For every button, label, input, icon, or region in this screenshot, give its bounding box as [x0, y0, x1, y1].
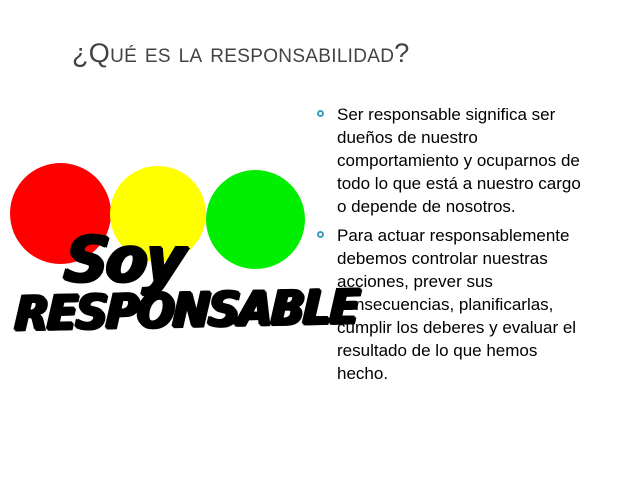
green-light-icon [206, 170, 305, 269]
bullet-list: Ser responsable significa ser dueños de … [312, 103, 587, 391]
presentation-slide: ¿Qué es la responsabilidad? Soy RESPONSA… [0, 0, 638, 479]
graffiti-text-soy: Soy [62, 229, 186, 292]
hollow-circle-bullet-icon [317, 110, 324, 117]
page-title: ¿Qué es la responsabilidad? [72, 36, 572, 70]
list-item-label: Ser responsable significa ser dueños de … [337, 105, 581, 216]
list-item: Para actuar responsablemente debemos con… [312, 224, 587, 385]
list-item-label: Para actuar responsablemente debemos con… [337, 226, 576, 383]
list-item: Ser responsable significa ser dueños de … [312, 103, 587, 218]
traffic-light-image: Soy RESPONSABLE [0, 150, 312, 360]
hollow-circle-bullet-icon [317, 231, 324, 238]
graffiti-text-responsable: RESPONSABLE [14, 284, 360, 339]
